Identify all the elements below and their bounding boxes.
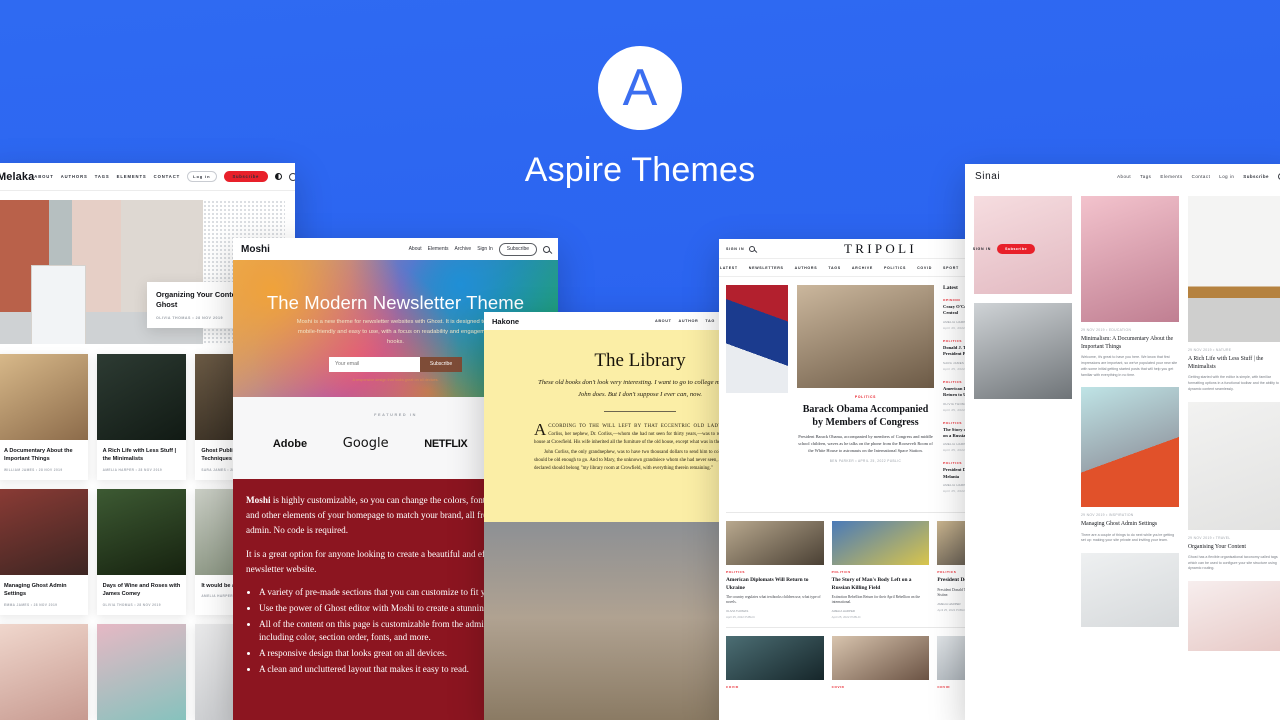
article-paragraph-2: John Corliss, the only grandnephew, was …: [534, 449, 746, 473]
list-item[interactable]: COVID: [726, 636, 824, 689]
nav-item-signin[interactable]: Sign In: [477, 246, 493, 252]
menu-item-tags[interactable]: TAGS: [828, 266, 841, 270]
page-title: Aspire Themes: [0, 151, 1280, 190]
lead-word: Moshi: [246, 495, 271, 505]
post-excerpt: Ghost has a flexible organisational taxo…: [1188, 555, 1280, 572]
post-excerpt: There are a couple of things to do next …: [1081, 533, 1179, 545]
item-author: AMELIA HARPER: [832, 609, 930, 613]
list-item[interactable]: [1188, 581, 1280, 651]
moshi-nav: About Elements Archive Sign In Subscribe: [409, 243, 550, 256]
post-meta: 29 NOV 2019 • INSPIRATION: [1081, 513, 1179, 517]
story-title: Barack Obama Accompanied by Members of C…: [797, 403, 934, 429]
search-icon[interactable]: [749, 246, 755, 252]
item-title: The Story of Man's Body Left on a Russia…: [832, 577, 930, 592]
post-thumbnail: [97, 354, 187, 440]
post-title: Days of Wine and Roses with James Comey: [103, 582, 181, 599]
email-input[interactable]: [329, 357, 420, 372]
list-item[interactable]: Days of Wine and Roses with James Comey …: [97, 489, 187, 615]
menu-item-latest[interactable]: LATEST: [720, 266, 738, 270]
list-item[interactable]: 29 NOV 2019 • NATURE A Rich Life with Le…: [1188, 196, 1280, 393]
story-meta: BEN PARKER • APRIL 25, 2022 PUBLIC: [797, 459, 934, 463]
list-item[interactable]: POLITICS The Story of Man's Body Left on…: [832, 521, 930, 619]
post-title: Managing Ghost Admin Settings: [4, 582, 82, 599]
hero-title: The Modern Newsletter Theme: [233, 260, 558, 314]
nav-item-elements[interactable]: Elements: [428, 246, 449, 252]
article-title: The Library: [534, 350, 746, 372]
post-title: Minimalism: A Documentary About the Impo…: [1081, 335, 1179, 351]
moshi-header: Moshi About Elements Archive Sign In Sub…: [233, 238, 558, 260]
post-meta: AMELIA HARPER • 28 NOV 2019: [103, 468, 181, 472]
drop-cap: A: [534, 423, 548, 437]
item-thumbnail: [832, 636, 930, 680]
post-meta: EMMA JAMES • 28 NOV 2019: [4, 603, 82, 607]
list-item[interactable]: COVID: [832, 636, 930, 689]
menu-item-newsletters[interactable]: NEWSLETTERS: [749, 266, 784, 270]
small-caps-lead: CCORDING TO THE WILL LEFT BY THAT ECCENT…: [548, 424, 723, 429]
post-thumbnail: [1081, 553, 1179, 627]
logo-letter: A: [623, 62, 658, 114]
item-author: OLIVIA THOMAS: [726, 609, 824, 613]
post-thumbnail: [0, 354, 88, 440]
item-dek: Extinction Rebellion Return for their Ap…: [832, 595, 930, 606]
item-thumbnail: [726, 636, 824, 680]
signin-link-left[interactable]: SIGN IN: [726, 247, 744, 251]
nav-item-about[interactable]: About: [409, 246, 422, 252]
item-date: April 25, 2022 PUBLIC: [832, 615, 930, 619]
post-meta: 29 NOV 2019 • EDUCATION: [1081, 328, 1179, 332]
aspire-logo-icon: A: [598, 46, 682, 130]
post-thumbnail: [1188, 402, 1280, 530]
adobe-logo: Adobe: [273, 438, 307, 450]
signup-form[interactable]: Subscribe: [329, 357, 462, 372]
item-kicker: POLITICS: [726, 570, 824, 574]
hakone-sitename[interactable]: Hakone: [492, 317, 519, 326]
menu-item-archive[interactable]: ARCHIVE: [852, 266, 873, 270]
post-thumbnail: [1081, 196, 1179, 322]
search-icon[interactable]: [543, 246, 550, 253]
nav-item-archive[interactable]: Archive: [455, 246, 472, 252]
article-body: ACCORDING TO THE WILL LEFT BY THAT ECCEN…: [534, 423, 746, 473]
post-meta: OLIVIA THOMAS • 28 NOV 2019: [103, 603, 181, 607]
post-thumbnail: [0, 489, 88, 575]
item-kicker: COVID: [726, 685, 824, 689]
item-kicker: COVID: [832, 685, 930, 689]
post-thumbnail: [0, 624, 88, 720]
divider: [604, 411, 676, 412]
post-meta: WILLIAM JAMES • 28 NOV 2019: [4, 468, 82, 472]
list-item[interactable]: 29 NOV 2019 • INSPIRATION Managing Ghost…: [1081, 387, 1179, 544]
lead-story[interactable]: POLITICS Barack Obama Accompanied by Mem…: [797, 285, 934, 502]
article-subtitle: These old books don't look very interest…: [534, 377, 746, 400]
brand-block: A Aspire Themes: [0, 46, 1280, 190]
hero-subtitle: Moshi is a new theme for newsletter webs…: [290, 318, 502, 348]
list-item[interactable]: A Rich Life with Less Stuff | the Minima…: [97, 354, 187, 480]
list-item[interactable]: 29 NOV 2019 • TRAVEL Organising Your Con…: [1188, 402, 1280, 573]
post-title: A Rich Life with Less Stuff | the Minima…: [103, 447, 181, 464]
story-dek: President Barack Obama, accompanied by m…: [797, 434, 934, 454]
post-meta: 29 NOV 2019 • TRAVEL: [1188, 536, 1280, 540]
subscribe-submit-button[interactable]: Subscribe: [420, 357, 462, 372]
sinai-post-grid: 29 NOV 2019 • EDUCATION Minimalism: A Do…: [965, 188, 1280, 660]
list-item[interactable]: A Documentary About the Important Things…: [0, 354, 88, 480]
menu-item-authors[interactable]: AUTHORS: [795, 266, 818, 270]
post-thumbnail: [1081, 387, 1179, 507]
post-meta: 29 NOV 2019 • NATURE: [1188, 348, 1280, 352]
nav-item-author[interactable]: AUTHOR: [679, 319, 699, 323]
post-thumbnail: [1188, 581, 1280, 651]
post-title: Organising Your Content: [1188, 543, 1280, 551]
lead-image: [797, 285, 934, 388]
google-logo: Google: [343, 436, 389, 451]
menu-item-sport[interactable]: SPORT: [943, 266, 959, 270]
item-date: April 25, 2022 PUBLIC: [726, 615, 824, 619]
item-kicker: POLITICS: [832, 570, 930, 574]
post-thumbnail: [97, 624, 187, 720]
list-item[interactable]: 29 NOV 2019 • EDUCATION Minimalism: A Do…: [1081, 196, 1179, 378]
subscribe-button[interactable]: Subscribe: [499, 243, 537, 256]
list-item[interactable]: Managing Ghost Admin Settings EMMA JAMES…: [0, 489, 88, 615]
story-kicker[interactable]: POLITICS: [797, 395, 934, 399]
post-excerpt: Getting started with the editor is simpl…: [1188, 375, 1280, 392]
list-item[interactable]: [974, 303, 1072, 399]
post-title: A Documentary About the Important Things: [4, 447, 82, 464]
post-excerpt: Welcome, it's great to have you here. We…: [1081, 355, 1179, 378]
flag-image: [726, 285, 788, 393]
moshi-sitename[interactable]: Moshi: [241, 244, 270, 255]
list-item[interactable]: POLITICS American Diplomats Will Return …: [726, 521, 824, 619]
signin-link[interactable]: SIGN IN: [973, 247, 991, 251]
left-rail: [726, 285, 788, 502]
item-dek: The country regulates what textbooks chi…: [726, 595, 824, 606]
list-item[interactable]: [1081, 553, 1179, 627]
nav-item-tag[interactable]: TAG: [705, 319, 715, 323]
netflix-logo: NETFLIX: [424, 438, 467, 450]
menu-item-politics[interactable]: POLITICS: [884, 266, 906, 270]
item-thumbnail: [726, 521, 824, 565]
aspire-themes-showcase: Melaka ABOUT AUTHORS TAGS ELEMENTS CONTA…: [0, 0, 1280, 720]
subscribe-button[interactable]: Subscribe: [997, 244, 1035, 254]
item-title: American Diplomats Will Return to Ukrain…: [726, 577, 824, 592]
post-title: Managing Ghost Admin Settings: [1081, 520, 1179, 528]
post-thumbnail: [974, 303, 1072, 399]
post-thumbnail: [97, 489, 187, 575]
post-thumbnail: [1188, 196, 1280, 342]
menu-item-covid[interactable]: COVID: [917, 266, 932, 270]
nav-item-about[interactable]: ABOUT: [655, 319, 672, 323]
list-item[interactable]: [0, 624, 88, 720]
list-item[interactable]: [97, 624, 187, 720]
post-title: A Rich Life with Less Stuff | the Minima…: [1188, 355, 1280, 371]
item-thumbnail: [832, 521, 930, 565]
